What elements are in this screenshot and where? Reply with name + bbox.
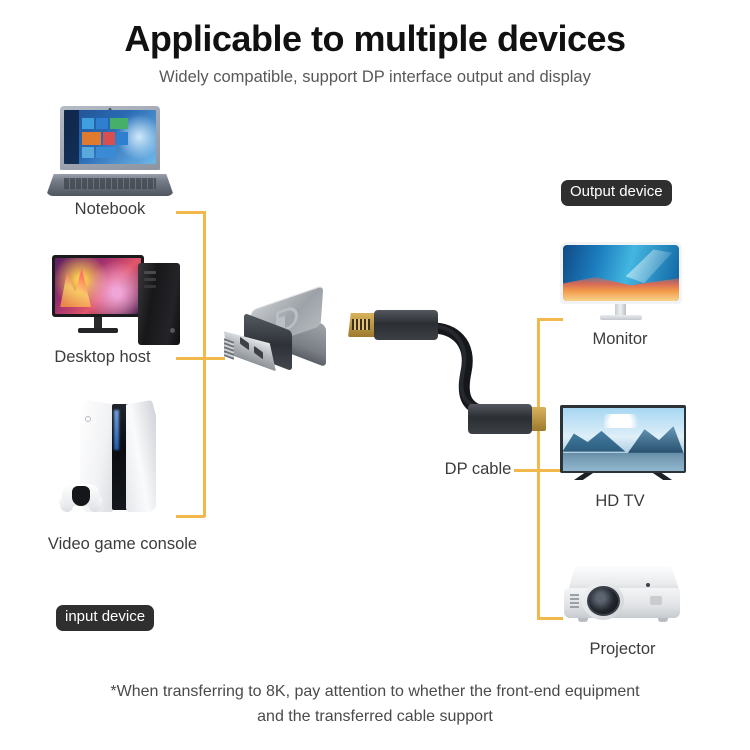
tv-wallpaper-cloud [604, 414, 645, 428]
console-right-panel [126, 400, 156, 512]
caption-dp-cable: DP cable [388, 460, 568, 479]
footnote-line-2: and the transferred cable support [0, 705, 750, 730]
console-light-strip [114, 410, 119, 450]
output-branch-projector [537, 617, 563, 620]
plug-contact [240, 337, 249, 351]
console-controller-icon [58, 478, 104, 512]
controller-touchpad [72, 486, 90, 506]
projector-lens [587, 586, 620, 616]
start-tile [82, 132, 100, 145]
laptop-icon [46, 106, 174, 196]
desktop-monitor-screen [55, 258, 141, 314]
monitor-screen [563, 245, 679, 301]
monitor-panel [560, 242, 682, 304]
game-console-icon [58, 400, 178, 522]
caption-notebook: Notebook [0, 200, 220, 219]
start-tile [96, 118, 108, 130]
tv-wallpaper-mountain-left [563, 426, 626, 451]
page-subtitle: Widely compatible, support DP interface … [0, 68, 750, 87]
curved-monitor-icon [560, 242, 682, 324]
tv-panel [560, 405, 686, 473]
monitor-stand-foot [600, 315, 642, 320]
projector-vent [570, 594, 579, 608]
start-tile [103, 132, 115, 145]
infographic-canvas: Applicable to multiple devices Widely co… [0, 0, 750, 750]
start-tile [96, 147, 116, 158]
footnote: *When transferring to 8K, pay attention … [0, 680, 750, 730]
cable-connector-1-housing [374, 310, 438, 340]
tv-screen [563, 408, 684, 471]
laptop-keys [64, 178, 156, 189]
projector-side-panel [650, 596, 662, 605]
tv-wallpaper-water [563, 453, 684, 471]
status-badge-output-device: Output device [561, 180, 672, 206]
plug-contact [254, 346, 263, 360]
start-tile [82, 118, 94, 130]
cable-connector-2-housing [468, 404, 532, 434]
monitor-wallpaper-streak [626, 249, 672, 283]
cable-connector-1-pins [348, 313, 376, 337]
caption-monitor: Monitor [540, 330, 700, 349]
status-badge-input-device: input device [56, 605, 154, 631]
desktop-monitor-foot [78, 328, 118, 333]
laptop-screen [64, 110, 156, 164]
projector-icon [562, 566, 684, 630]
monitor-wallpaper-wave [563, 272, 679, 301]
desktop-computer-icon [52, 253, 192, 349]
laptop-keyboard-base [46, 174, 174, 196]
start-tile [110, 118, 128, 130]
desktop-tower-case [138, 263, 180, 345]
dp-cable-icon [336, 300, 536, 450]
caption-desktop-host: Desktop host [0, 348, 205, 367]
windows-taskbar [64, 110, 79, 164]
projector-sensor-icon [646, 583, 650, 587]
caption-projector: Projector [540, 640, 705, 659]
page-title: Applicable to multiple devices [0, 18, 750, 60]
plug-pin-teeth [224, 338, 234, 360]
caption-hd-tv: HD TV [540, 492, 700, 511]
laptop-lid [60, 106, 160, 170]
footnote-line-1: *When transferring to 8K, pay attention … [0, 680, 750, 705]
desktop-monitor [52, 255, 144, 317]
television-icon [560, 405, 686, 481]
console-power-badge [85, 416, 91, 422]
dp-to-hdmi-adapter-icon [222, 296, 342, 384]
input-branch-console [176, 515, 205, 518]
caption-video-game-console: Video game console [0, 535, 245, 554]
start-tile [116, 132, 128, 145]
start-tile [82, 147, 94, 158]
